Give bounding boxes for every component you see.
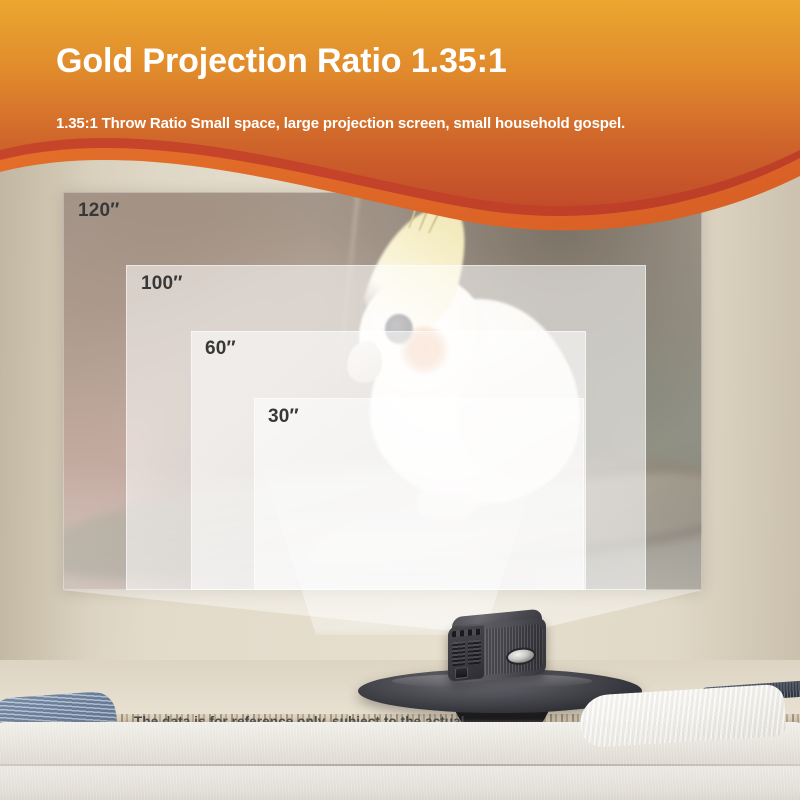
screen-size-label-100: 100″ [141, 273, 183, 295]
screen-size-label-60: 60″ [205, 338, 236, 360]
sofa-fabric-texture [0, 722, 800, 800]
projector-speaker-grille [452, 641, 465, 666]
projector-device [448, 617, 546, 683]
screen-size-label-120: 120″ [78, 200, 120, 222]
projector-speaker-grille [468, 640, 481, 665]
screen-size-rect-30 [254, 398, 584, 590]
screen-size-label-30: 30″ [268, 406, 299, 428]
projector-power-socket [455, 667, 468, 679]
projector-throw-ratio-infographic: 120″ 100″ 60″ 30″ The data is for refere… [0, 0, 800, 800]
